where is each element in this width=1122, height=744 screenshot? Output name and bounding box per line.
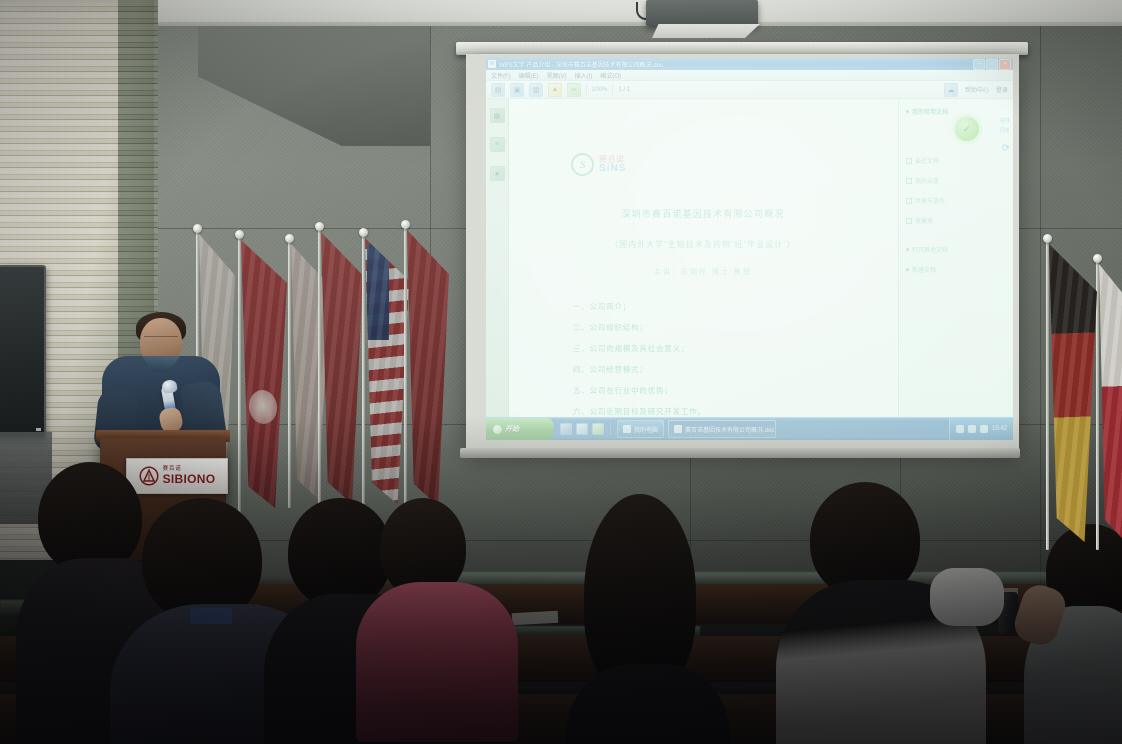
new-file-icon[interactable]: ▤ bbox=[491, 83, 505, 97]
app-side-rail[interactable]: ▦ ≡ ★ bbox=[486, 99, 509, 418]
flag-finial bbox=[1093, 254, 1102, 263]
flag-finial bbox=[193, 224, 202, 233]
slide-subheading: （国内外大学“生物技术及药物”班“毕业设计”） bbox=[509, 239, 897, 250]
system-tray[interactable]: 15:42 bbox=[949, 418, 1013, 440]
attendee-shoulder bbox=[930, 568, 1004, 626]
toolbar-right-group[interactable]: ☁ 帮助中心 登录 bbox=[944, 83, 1013, 97]
side-item-cloud[interactable]: 我的云盘 bbox=[906, 176, 1007, 185]
task-button-active[interactable]: 赛百诺基因技术有限公司概况.doc bbox=[668, 420, 776, 438]
page-indicator: 1 / 1 bbox=[618, 87, 630, 93]
status-sync: 同步 bbox=[1000, 127, 1010, 134]
wall-joint bbox=[1040, 26, 1041, 586]
save-icon[interactable]: ▥ bbox=[529, 83, 543, 97]
bullet-icon bbox=[906, 268, 909, 271]
pages-thumbnail-icon[interactable]: ▦ bbox=[490, 108, 505, 123]
ie-icon[interactable] bbox=[560, 423, 572, 435]
lecture-hall-scene: W WPS文字 产品介绍 - 深圳市赛百诺基因技术有限公司概况.doc – □ … bbox=[0, 0, 1122, 744]
zoom-level[interactable]: 100% bbox=[592, 87, 607, 93]
folder-icon bbox=[623, 425, 631, 433]
slide-heading: 深圳市赛百诺基因技术有限公司概况 bbox=[509, 207, 897, 220]
menu-item-edit[interactable]: 编辑(E) bbox=[519, 71, 539, 80]
list-item: 一、公司简介； bbox=[573, 301, 873, 312]
outline-icon[interactable]: ≡ bbox=[490, 137, 505, 152]
task-button[interactable]: 我的电脑 bbox=[617, 420, 664, 438]
lectern-nameplate: 赛百诺 SIBIONO bbox=[126, 458, 228, 494]
clock[interactable]: 15:42 bbox=[992, 426, 1007, 432]
attendee-body bbox=[356, 582, 518, 742]
maximize-button[interactable]: □ bbox=[986, 59, 998, 70]
slide-outline-list: 一、公司简介； 二、公司组织结构； 三、公司的规模及其社会意义； 四、公司经营模… bbox=[573, 301, 873, 417]
menu-item-format[interactable]: 格式(O) bbox=[600, 71, 621, 80]
quick-launch-bar[interactable] bbox=[554, 423, 611, 435]
window-controls[interactable]: – □ × bbox=[973, 59, 1011, 70]
menu-item-file[interactable]: 文件(F) bbox=[491, 71, 511, 80]
notebook-papers bbox=[512, 611, 559, 625]
wall-mounted-display bbox=[0, 265, 46, 439]
bullet-icon bbox=[906, 248, 909, 251]
star-icon bbox=[906, 218, 912, 224]
side-item-open-other[interactable]: 打开其他文档 bbox=[906, 245, 1007, 254]
document-page[interactable]: S 赛百诺 SiNS 深圳市赛百诺基因技术有限公司概况 （国内外大学“生物技术及… bbox=[509, 99, 897, 418]
flag-pole bbox=[362, 236, 365, 510]
flag-finial bbox=[285, 234, 294, 243]
document-icon bbox=[674, 425, 682, 433]
list-item: 六、公司近期目标及研究开发工作。 bbox=[573, 406, 873, 417]
help-center-link[interactable]: 帮助中心 bbox=[965, 85, 989, 94]
print-icon[interactable]: ▲ bbox=[548, 83, 562, 97]
list-item: 四、公司经营模式； bbox=[573, 364, 873, 375]
window-title-bar: W WPS文字 产品介绍 - 深圳市赛百诺基因技术有限公司概况.doc – □ … bbox=[486, 58, 1013, 70]
bullet-icon bbox=[906, 110, 909, 113]
start-orb-icon bbox=[493, 425, 502, 434]
side-item-shared[interactable]: 共享与协作 bbox=[906, 196, 1007, 205]
screen-bottom-bar bbox=[460, 448, 1020, 458]
flag-pole bbox=[404, 228, 407, 512]
side-item-favorites[interactable]: 收藏夹 bbox=[906, 216, 1007, 225]
share-icon bbox=[906, 198, 912, 204]
lanyard bbox=[190, 608, 232, 624]
nameplate-latin: SIBIONO bbox=[163, 473, 216, 485]
sibiono-triangle-logo-icon bbox=[139, 466, 159, 486]
sync-ok-icon[interactable]: ✓ bbox=[955, 117, 979, 141]
s-monogram-icon: S bbox=[571, 153, 594, 176]
flag-finial bbox=[401, 220, 410, 229]
flag-finial bbox=[1043, 234, 1052, 243]
document-icon: W bbox=[488, 60, 496, 68]
menu-bar[interactable]: 文件(F) 编辑(E) 视图(V) 插入(I) 格式(O) bbox=[486, 70, 1013, 81]
projector-lens bbox=[652, 24, 760, 38]
side-item-new-doc[interactable]: 新建文档 bbox=[906, 265, 1007, 274]
status-online: 在线 bbox=[1000, 117, 1010, 124]
side-item-recent[interactable]: 最近文档 bbox=[906, 156, 1007, 165]
file-icon bbox=[906, 158, 912, 164]
window-title: WPS文字 产品介绍 - 深圳市赛百诺基因技术有限公司概况.doc bbox=[499, 60, 663, 69]
cloud-icon bbox=[906, 178, 912, 184]
menu-item-view[interactable]: 视图(V) bbox=[547, 71, 567, 80]
minimize-button[interactable]: – bbox=[973, 59, 985, 70]
flag-finial bbox=[359, 228, 368, 237]
flag-finial bbox=[315, 222, 324, 231]
volume-icon[interactable] bbox=[956, 425, 964, 433]
open-folder-icon[interactable]: ▣ bbox=[510, 83, 524, 97]
flag-pole bbox=[238, 238, 241, 514]
taskbar[interactable]: 开始 我的电脑 赛百诺基因技术有限公司概况.doc bbox=[486, 417, 1013, 440]
bookmark-icon[interactable]: ★ bbox=[490, 166, 505, 181]
projected-desktop[interactable]: W WPS文字 产品介绍 - 深圳市赛百诺基因技术有限公司概况.doc – □ … bbox=[486, 58, 1013, 440]
power-led-icon bbox=[36, 428, 41, 431]
list-item: 三、公司的规模及其社会意义； bbox=[573, 343, 873, 354]
toolbar[interactable]: ▤ ▣ ▥ ▲ ✂ 100% 1 / 1 ☁ 帮助中心 登录 bbox=[486, 81, 1013, 99]
network-icon[interactable] bbox=[968, 425, 976, 433]
slide-byline: 主讲：彭朝晖 博士 教授 bbox=[509, 267, 897, 277]
side-panel-status: 在线 同步 bbox=[1000, 117, 1010, 134]
cloud-icon[interactable]: ☁ bbox=[944, 83, 958, 97]
attendee-head bbox=[288, 498, 392, 608]
start-label: 开始 bbox=[505, 424, 519, 434]
flag-pole bbox=[1096, 262, 1099, 550]
document-area[interactable]: S 赛百诺 SiNS 深圳市赛百诺基因技术有限公司概况 （国内外大学“生物技术及… bbox=[509, 99, 1013, 418]
cut-icon[interactable]: ✂ bbox=[567, 83, 581, 97]
toolbar-separator bbox=[612, 84, 613, 95]
documents-side-panel[interactable]: 我的常用文档 ✓ 在线 同步 ⟳ 最近文档 我的云盘 bbox=[898, 99, 1013, 418]
side-panel-heading: 我的常用文档 bbox=[906, 107, 1007, 116]
flag-finial bbox=[235, 230, 244, 239]
logo-latin-text: SiNS bbox=[599, 164, 626, 174]
login-link[interactable]: 登录 bbox=[996, 85, 1008, 94]
flag-pole bbox=[318, 230, 321, 510]
side-panel-heading-text: 我的常用文档 bbox=[912, 107, 948, 116]
show-desktop-icon[interactable] bbox=[576, 423, 588, 435]
ceiling-projector bbox=[646, 0, 758, 26]
glasses-icon bbox=[144, 336, 178, 345]
toolbar-separator bbox=[586, 84, 587, 95]
menu-item-insert[interactable]: 插入(I) bbox=[575, 71, 593, 80]
close-button[interactable]: × bbox=[999, 59, 1011, 70]
start-button[interactable]: 开始 bbox=[486, 418, 554, 440]
flag-pole bbox=[1046, 242, 1049, 550]
refresh-icon[interactable]: ⟳ bbox=[1002, 143, 1010, 154]
list-item: 二、公司组织结构； bbox=[573, 322, 873, 333]
input-method-icon[interactable] bbox=[980, 425, 988, 433]
task-button-list[interactable]: 我的电脑 赛百诺基因技术有限公司概况.doc bbox=[611, 420, 949, 438]
media-player-icon[interactable] bbox=[592, 423, 604, 435]
flag-pole bbox=[288, 242, 291, 508]
company-logo: S 赛百诺 SiNS bbox=[571, 153, 626, 176]
list-item: 五、公司在行业中的优势； bbox=[573, 385, 873, 396]
